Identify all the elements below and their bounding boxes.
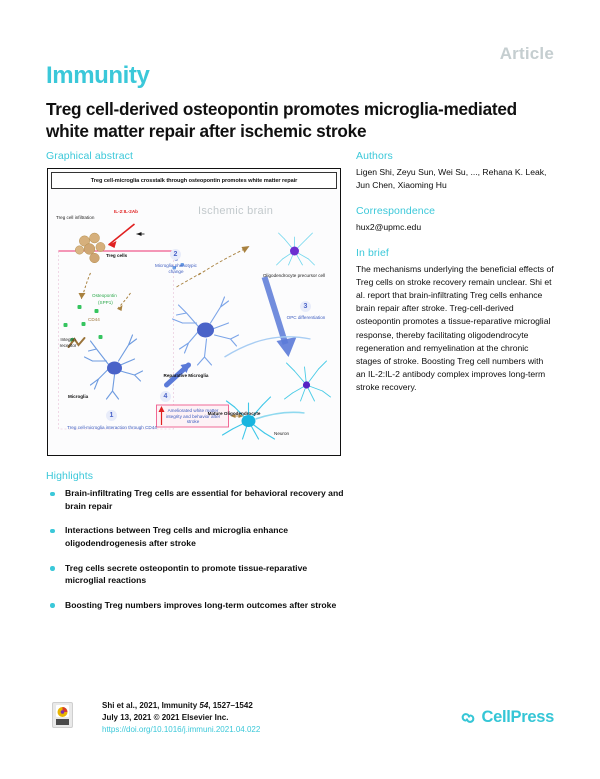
citation-volume: 54 bbox=[199, 701, 208, 710]
page-header: Article Immunity Treg cell-derived osteo… bbox=[46, 44, 554, 142]
cp-cell: Cell bbox=[481, 708, 510, 726]
page-footer: Shi et al., 2021, Immunity 54, 1527–1542… bbox=[46, 700, 554, 740]
bullet-icon bbox=[50, 603, 55, 608]
label-microglia: Microglia bbox=[68, 394, 88, 400]
journal-logo: Immunity bbox=[46, 64, 554, 88]
highlights-list: Brain-infiltrating Treg cells are essent… bbox=[46, 487, 346, 623]
correspondence-email[interactable]: hux2@upmc.edu bbox=[356, 221, 554, 234]
graphical-abstract-heading: Graphical abstract bbox=[46, 150, 133, 162]
highlights-heading: Highlights bbox=[46, 470, 93, 482]
label-neuron: Neuron bbox=[274, 431, 289, 437]
in-brief-heading: In brief bbox=[356, 247, 554, 259]
step-3-text: OPC differentiation bbox=[280, 315, 332, 321]
graphical-abstract-figure: Treg cell-microglia crosstalk through os… bbox=[47, 168, 341, 456]
journal-cover-thumbnail-icon bbox=[52, 702, 73, 728]
label-opc: Oligodendrocyte precursor cell bbox=[256, 273, 332, 279]
cell-press-wordmark: CellPress bbox=[481, 708, 554, 727]
highlight-text: Brain-infiltrating Treg cells are essent… bbox=[65, 488, 343, 511]
cp-p: P bbox=[511, 708, 522, 726]
cp-ress: ress bbox=[521, 708, 554, 726]
metadata-column: Authors Ligen Shi, Zeyu Sun, Wei Su, ...… bbox=[356, 150, 554, 394]
citation-block: Shi et al., 2021, Immunity 54, 1527–1542… bbox=[102, 700, 260, 735]
figure-canvas: Ischemic brain bbox=[48, 189, 340, 456]
cover-text-block-icon bbox=[56, 719, 69, 725]
highlight-text: Treg cells secrete osteopontin to promot… bbox=[65, 563, 307, 586]
authors-heading: Authors bbox=[356, 150, 554, 162]
doi-link[interactable]: https://doi.org/10.1016/j.immuni.2021.04… bbox=[102, 724, 260, 736]
step-1-text: Treg cell-microglia interaction through … bbox=[64, 425, 160, 431]
correspondence-heading: Correspondence bbox=[356, 205, 554, 217]
cover-art-icon bbox=[56, 706, 69, 717]
label-integrin-receptor: Integrin receptor bbox=[52, 337, 84, 348]
label-treg-infiltration: Treg cell infiltration bbox=[56, 215, 94, 221]
bullet-icon bbox=[50, 566, 55, 571]
label-il2-complex: IL-2:IL-2Ab bbox=[114, 209, 138, 215]
step-4-badge: 4 bbox=[160, 391, 171, 402]
bullet-icon bbox=[50, 529, 55, 534]
authors-list: Ligen Shi, Zeyu Sun, Wei Su, ..., Rehana… bbox=[356, 166, 554, 192]
citation-line-2: July 13, 2021 © 2021 Elsevier Inc. bbox=[102, 712, 260, 724]
highlight-text: Interactions between Treg cells and micr… bbox=[65, 525, 288, 548]
bullet-icon bbox=[50, 492, 55, 497]
step-2-text: Microglia phenotypic change bbox=[148, 263, 204, 274]
highlight-text: Boosting Treg numbers improves long-term… bbox=[65, 600, 336, 610]
label-reparative-microglia: Reparative Microglia bbox=[156, 373, 216, 379]
article-type-label: Article bbox=[500, 44, 554, 64]
step-1-badge: 1 bbox=[106, 410, 117, 421]
cell-press-logo: CellPress bbox=[459, 708, 554, 727]
list-item: Interactions between Treg cells and micr… bbox=[46, 524, 346, 550]
label-cd44: CD44 bbox=[88, 317, 100, 323]
citation-line-1: Shi et al., 2021, Immunity 54, 1527–1542 bbox=[102, 700, 260, 712]
list-item: Boosting Treg numbers improves long-term… bbox=[46, 599, 346, 612]
step-2-badge: 2 bbox=[170, 249, 181, 260]
step-3-badge: 3 bbox=[300, 301, 311, 312]
in-brief-text: The mechanisms underlying the beneficial… bbox=[356, 263, 554, 394]
citation-pages: , 1527–1542 bbox=[208, 701, 253, 710]
figure-title-text: Treg cell-microglia crosstalk through os… bbox=[91, 178, 298, 184]
figure-title-bar: Treg cell-microglia crosstalk through os… bbox=[51, 172, 337, 189]
label-osteopontin-sub: (SPP1) bbox=[98, 300, 113, 306]
label-osteopontin: Osteopontin bbox=[92, 293, 117, 299]
step-4-text: Ameliorated white matter integrity and b… bbox=[161, 408, 225, 425]
page-title: Treg cell-derived osteopontin promotes m… bbox=[46, 98, 551, 142]
chain-link-icon bbox=[459, 710, 477, 726]
label-treg-cells: Treg cells bbox=[106, 253, 127, 259]
list-item: Brain-infiltrating Treg cells are essent… bbox=[46, 487, 346, 513]
list-item: Treg cells secrete osteopontin to promot… bbox=[46, 562, 346, 588]
citation-prefix: Shi et al., 2021, Immunity bbox=[102, 701, 199, 710]
